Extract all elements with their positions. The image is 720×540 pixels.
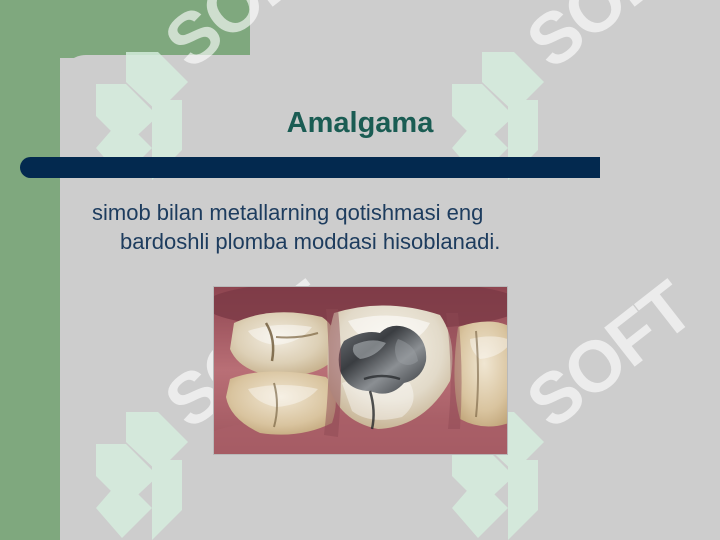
presentation-slide: SOFT SOFT SOFT SOFT Amalgama simob bilan… <box>0 0 720 540</box>
slide-title: Amalgama <box>60 108 660 140</box>
green-sidebar-band <box>0 0 60 540</box>
body-line-2: bardoshli plomba moddasi hisoblanadi. <box>92 227 632 256</box>
title-underline-bar <box>20 157 600 178</box>
body-line-1: simob bilan metallarning qotishmasi eng <box>92 198 632 227</box>
gray-top-right-fill <box>250 0 720 58</box>
green-top-block <box>0 0 250 58</box>
slide-body-text: simob bilan metallarning qotishmasi eng … <box>92 198 632 256</box>
dental-amalgam-photo <box>213 286 508 455</box>
